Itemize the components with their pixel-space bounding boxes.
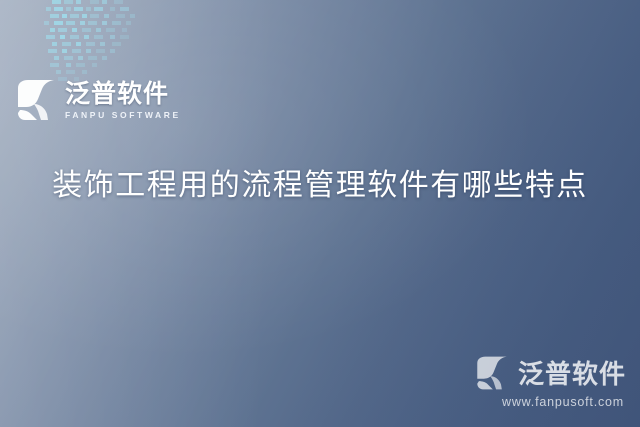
watermark-brand-name: 泛普软件 (518, 354, 626, 391)
watermark-url: www.fanpusoft.com (502, 395, 624, 409)
brand-name-en: FANPU SOFTWARE (65, 111, 181, 120)
page-title: 装饰工程用的流程管理软件有哪些特点 (0, 160, 640, 204)
watermark: 泛普软件 www.fanpusoft.com (474, 354, 626, 409)
brand-logo: 泛普软件 FANPU SOFTWARE (14, 78, 181, 122)
fanpu-logo-icon (14, 78, 58, 122)
watermark-logo-row: 泛普软件 (474, 354, 626, 391)
banner: 泛普软件 FANPU SOFTWARE 装饰工程用的流程管理软件有哪些特点 泛普… (0, 0, 640, 427)
brand-name-cn: 泛普软件 (65, 81, 181, 106)
binary-code-pixels-icon (40, 0, 155, 88)
background-sheen-secondary (0, 0, 432, 427)
fanpu-watermark-icon (474, 355, 510, 391)
brand-logo-text: 泛普软件 FANPU SOFTWARE (65, 81, 181, 120)
